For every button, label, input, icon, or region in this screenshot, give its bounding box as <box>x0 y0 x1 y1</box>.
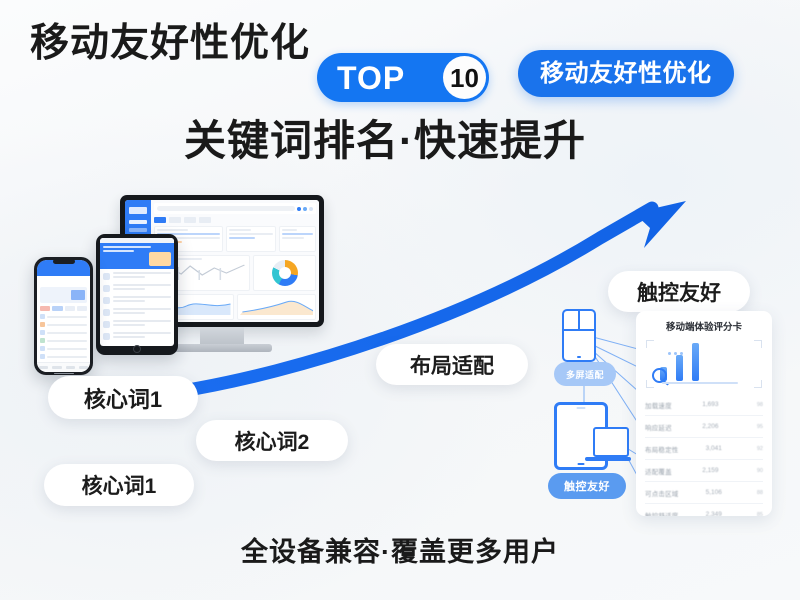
row-value: 2,159 <box>702 467 718 474</box>
device-mockup-group <box>24 195 324 395</box>
row-label: 可点击区域 <box>645 488 679 498</box>
phone-bezel <box>34 257 93 375</box>
phone-chip <box>40 306 50 311</box>
monitor-stand-foot <box>172 344 272 352</box>
phone-search-field <box>41 278 86 284</box>
list-item <box>40 338 87 343</box>
list-item-text <box>47 332 87 334</box>
chart-bar <box>692 343 699 381</box>
list-item-icon <box>40 338 45 343</box>
dashboard-nav-item <box>129 228 147 232</box>
dashboard-area-card-2 <box>237 294 317 320</box>
hero-thumbnail <box>149 252 171 266</box>
dashboard-status-dot <box>303 207 307 211</box>
phone-screen <box>37 260 90 372</box>
donut-chart-icon <box>272 260 298 286</box>
dashboard-tab <box>154 217 166 223</box>
phone-home-indicator <box>54 373 74 375</box>
row-value: 2,349 <box>706 511 722 516</box>
row-value: 2,206 <box>702 423 718 430</box>
row-label: 适配覆盖 <box>645 466 672 476</box>
list-item-text <box>47 348 87 350</box>
tablet-device <box>96 234 178 355</box>
list-item-text <box>47 316 87 318</box>
row-value: 3,041 <box>706 445 722 452</box>
scorecard-title: 移动端体验评分卡 <box>636 319 772 333</box>
phone-chip <box>77 306 87 311</box>
diagram-laptop-icon <box>591 427 627 461</box>
phone-chip <box>65 306 75 311</box>
row-sub: 90 <box>749 468 763 474</box>
footer-caption: 全设备兼容·覆盖更多用户 <box>0 530 800 569</box>
list-item-icon <box>40 314 45 319</box>
dashboard-logo <box>129 207 147 214</box>
feature-pill-layout[interactable]: 布局适配 <box>376 344 528 385</box>
scorecard-panel: 移动端体验评分卡 加载速度 1,693 98 <box>636 311 772 516</box>
tablet-list <box>100 269 174 346</box>
phone-banner <box>40 287 87 303</box>
list-item-icon <box>103 309 110 316</box>
list-item-icon <box>103 333 110 340</box>
dashboard-tab-row <box>154 217 316 223</box>
dashboard-chart-row <box>154 255 316 291</box>
tablet-hero-banner <box>100 243 174 269</box>
list-item <box>40 330 87 335</box>
row-sub: 88 <box>749 490 763 496</box>
diagram-pill-multi-screen: 多屏适配 <box>554 362 616 386</box>
table-row: 触控舒适度 2,349 85 <box>645 504 763 516</box>
dashboard-card-row <box>154 226 316 252</box>
dashboard-card <box>279 226 316 252</box>
list-item-text <box>47 324 87 326</box>
row-value: 1,693 <box>702 401 718 408</box>
list-item-icon <box>103 297 110 304</box>
card-line <box>229 233 273 235</box>
list-item-text <box>113 296 171 304</box>
diagram-pill-touch-friendly: 触控友好 <box>548 473 626 499</box>
row-sub: 85 <box>749 512 763 517</box>
row-label: 响应延迟 <box>645 422 672 432</box>
row-sub: 98 <box>749 402 763 408</box>
list-item <box>103 332 171 340</box>
keyword-pill-3[interactable]: 核心词1 <box>44 464 194 506</box>
card-line <box>282 237 304 239</box>
row-value: 5,106 <box>706 489 722 496</box>
scorecard-chart <box>646 340 762 388</box>
list-item <box>103 320 171 328</box>
dashboard-tab <box>199 217 211 223</box>
list-item-icon <box>40 330 45 335</box>
chart-bar <box>676 355 683 381</box>
card-line <box>157 229 188 231</box>
card-line <box>282 229 298 231</box>
list-item-text <box>47 356 87 358</box>
list-item-icon <box>103 285 110 292</box>
area-chart-icon <box>240 297 314 315</box>
hero-line <box>103 250 134 252</box>
tablet-bezel <box>96 234 178 355</box>
keyword-pill-2[interactable]: 核心词2 <box>196 420 348 461</box>
list-item <box>103 272 171 280</box>
list-item-text <box>47 340 87 342</box>
scorecard-table: 加载速度 1,693 98 响应延迟 2,206 95 布局稳定性 3,041 … <box>645 394 763 516</box>
list-item-icon <box>40 354 45 359</box>
list-item-text <box>113 332 171 340</box>
list-item <box>40 346 87 351</box>
card-line <box>229 237 255 239</box>
list-item-icon <box>40 346 45 351</box>
phone-list <box>37 314 90 367</box>
dashboard-tab <box>184 217 196 223</box>
table-row: 响应延迟 2,206 95 <box>645 416 763 438</box>
keyword-pill-1[interactable]: 核心词1 <box>48 376 198 419</box>
dashboard-status-dot <box>309 207 313 211</box>
list-item <box>40 314 87 319</box>
list-item <box>103 308 171 316</box>
row-label: 触控舒适度 <box>645 510 679 517</box>
list-item-icon <box>103 321 110 328</box>
table-row: 适配覆盖 2,159 90 <box>645 460 763 482</box>
card-line <box>282 233 313 235</box>
table-row: 加载速度 1,693 98 <box>645 394 763 416</box>
phone-chip <box>52 306 62 311</box>
dashboard-tab <box>169 217 181 223</box>
dashboard-search-field <box>157 206 295 211</box>
list-item-text <box>113 284 171 292</box>
row-sub: 92 <box>749 446 763 452</box>
dashboard-card <box>226 226 276 252</box>
list-item-text <box>113 320 171 328</box>
list-item-text <box>113 308 171 316</box>
phone-chip-row <box>40 306 87 311</box>
row-label: 布局稳定性 <box>645 444 679 454</box>
magnifier-icon <box>652 368 667 383</box>
dashboard-nav-item <box>129 220 147 224</box>
list-item-icon <box>40 322 45 327</box>
list-item-text <box>113 272 171 280</box>
phone-notch <box>53 259 75 264</box>
list-item <box>103 296 171 304</box>
table-row: 可点击区域 5,106 88 <box>645 482 763 504</box>
list-item-icon <box>103 273 110 280</box>
table-row: 布局稳定性 3,041 92 <box>645 438 763 460</box>
phone-tab-bar <box>37 362 90 372</box>
dashboard-status-dot <box>297 207 301 211</box>
diagram-phone-small-icon <box>562 309 596 362</box>
dashboard-chart-row-2 <box>154 294 316 320</box>
poster-canvas: 移动友好性优化 TOP 10 移动友好性优化 关键词排名·快速提升 <box>0 0 800 600</box>
tablet-screen <box>100 238 174 346</box>
monitor-stand-neck <box>200 327 244 345</box>
tablet-home-button <box>133 345 141 353</box>
phone-device <box>34 257 93 375</box>
card-line <box>229 229 251 231</box>
dashboard-topbar <box>154 203 316 214</box>
banner-thumb <box>71 290 85 300</box>
row-label: 加载速度 <box>645 400 672 410</box>
mobile-experience-diagram: 多屏适配 触控友好 移动端体验评分卡 <box>548 305 776 520</box>
hero-line <box>103 246 151 248</box>
row-sub: 95 <box>749 424 763 430</box>
dashboard-donut-card <box>253 255 316 291</box>
list-item <box>40 322 87 327</box>
list-item <box>40 354 87 359</box>
bar-chart-icon <box>660 343 752 381</box>
list-item <box>103 284 171 292</box>
